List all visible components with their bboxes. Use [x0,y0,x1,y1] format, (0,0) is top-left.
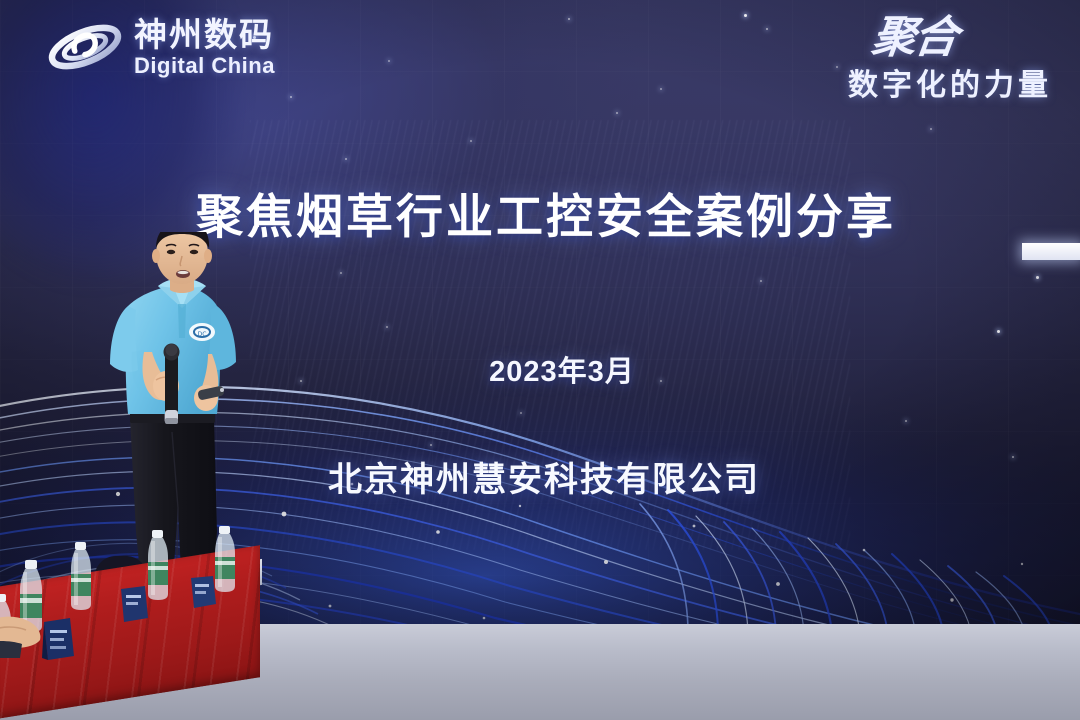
screen-edge-highlight-bar [1022,243,1080,260]
brand-name-en: Digital China [134,55,275,77]
brand-logo: 神州数码 Digital China [46,16,275,78]
event-slogan: 聚合 数字化的力量 [848,18,1052,104]
foreground-head-table [0,540,290,720]
brand-text: 神州数码 Digital China [134,18,275,77]
microphone-icon [164,344,180,425]
slogan-subtitle: 数字化的力量 [848,60,1052,104]
slogan-calligraphy: 聚合 [870,18,959,58]
name-card [118,584,152,622]
shirt-logo-patch: DC [189,323,215,341]
name-card [188,574,220,608]
conference-stage-photo: 神州数码 Digital China 聚合 数字化的力量 聚焦烟草行业工控安全案… [0,0,1080,720]
svg-text:DC: DC [198,331,207,338]
speaker-head [152,232,212,284]
seated-attendee-hands [0,600,80,662]
swirl-galaxy-icon [46,16,124,78]
brand-name-cn: 神州数码 [134,18,275,51]
